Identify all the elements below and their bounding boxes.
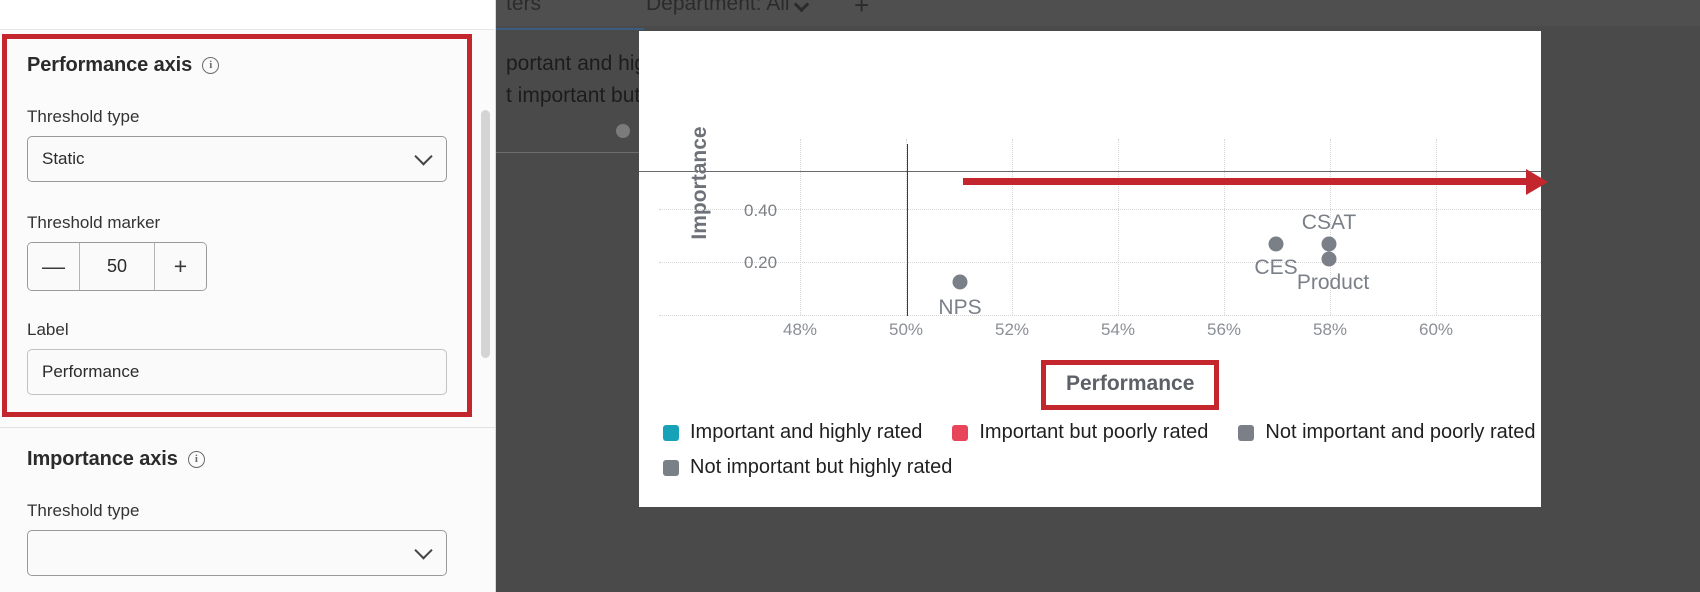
threshold-type-value: Static bbox=[42, 149, 85, 169]
legend-label: Not important but highly rated bbox=[690, 456, 952, 479]
importance-threshold-type-label: Threshold type bbox=[27, 501, 447, 521]
gridline-h-000 bbox=[659, 315, 1541, 316]
info-icon[interactable]: i bbox=[202, 57, 219, 74]
legend-item-not-important-poorly-rated[interactable]: Not important and poorly rated bbox=[1238, 421, 1535, 444]
behind-panel-divider bbox=[496, 152, 644, 153]
legend-swatch-icon bbox=[952, 425, 968, 441]
legend-item-not-important-highly-rated[interactable]: Not important but highly rated bbox=[663, 456, 952, 479]
importance-threshold-type-field: Threshold type bbox=[27, 501, 447, 576]
data-point-label-ces: CES bbox=[1254, 256, 1297, 280]
add-filter-button[interactable]: + bbox=[854, 0, 869, 21]
x-tick-label: 58% bbox=[1313, 320, 1347, 340]
performance-threshold-line bbox=[907, 144, 908, 316]
behind-legend-dot bbox=[616, 124, 630, 138]
data-point-product[interactable] bbox=[1322, 252, 1337, 267]
threshold-marker-stepper[interactable]: — 50 + bbox=[27, 242, 207, 291]
threshold-type-label: Threshold type bbox=[27, 107, 447, 127]
legend-swatch-icon bbox=[663, 425, 679, 441]
chart-legend: Important and highly rated Important but… bbox=[663, 421, 1523, 491]
label-input[interactable]: Performance bbox=[27, 349, 447, 395]
y-axis-title: Importance bbox=[688, 126, 712, 239]
section-divider bbox=[0, 427, 496, 428]
sidebar-top-strip bbox=[0, 0, 496, 30]
x-axis-title: Performance bbox=[1066, 372, 1194, 395]
data-point-label-nps: NPS bbox=[938, 296, 981, 320]
importance-axis-title-row: Importance axis i bbox=[27, 448, 447, 471]
performance-axis-title-row: Performance axis i bbox=[27, 54, 447, 77]
gridline-h-020 bbox=[659, 262, 1541, 263]
sidebar-scrollbar[interactable] bbox=[481, 110, 490, 358]
app-topbar: ters Department: All + bbox=[496, 0, 1700, 26]
accent-rule bbox=[496, 28, 644, 30]
section-title: Importance axis i bbox=[27, 448, 447, 471]
department-filter[interactable]: Department: All bbox=[646, 0, 790, 16]
importance-threshold-type-select[interactable] bbox=[27, 530, 447, 576]
importance-axis-heading: Importance axis bbox=[27, 448, 178, 471]
performance-axis-heading: Performance axis bbox=[27, 54, 192, 77]
gridline-v-52 bbox=[1012, 139, 1013, 315]
gridline-v-60 bbox=[1436, 139, 1437, 315]
x-tick-label: 56% bbox=[1207, 320, 1241, 340]
label-field-label: Label bbox=[27, 320, 447, 340]
increment-button[interactable]: + bbox=[154, 243, 206, 290]
chart-card: Importance 0.40 0.20 48% 50% 52% 54% 56%… bbox=[639, 31, 1541, 507]
data-point-nps[interactable] bbox=[953, 275, 968, 290]
legend-label: Not important and poorly rated bbox=[1265, 421, 1535, 444]
x-tick-label: 52% bbox=[995, 320, 1029, 340]
legend-label: Important but poorly rated bbox=[979, 421, 1208, 444]
data-point-csat[interactable] bbox=[1322, 237, 1337, 252]
legend-item-important-highly-rated[interactable]: Important and highly rated bbox=[663, 421, 922, 444]
threshold-marker-label: Threshold marker bbox=[27, 213, 447, 233]
threshold-marker-field: Threshold marker — 50 + bbox=[27, 213, 447, 291]
legend-label: Important and highly rated bbox=[690, 421, 922, 444]
data-point-label-csat: CSAT bbox=[1302, 211, 1356, 235]
legend-item-important-poorly-rated[interactable]: Important but poorly rated bbox=[952, 421, 1208, 444]
importance-threshold-line bbox=[639, 171, 1541, 172]
y-tick-label: 0.40 bbox=[744, 201, 777, 221]
legend-row: Not important but highly rated bbox=[663, 456, 1523, 479]
label-input-value: Performance bbox=[42, 362, 139, 382]
chevron-down-icon[interactable] bbox=[794, 0, 810, 12]
legend-row: Important and highly rated Important but… bbox=[663, 421, 1523, 444]
x-tick-label: 54% bbox=[1101, 320, 1135, 340]
x-tick-label: 48% bbox=[783, 320, 817, 340]
gridline-v-54 bbox=[1118, 139, 1119, 315]
scatter-plot: Importance 0.40 0.20 48% 50% 52% 54% 56%… bbox=[639, 31, 1541, 341]
section-title: Performance axis i bbox=[27, 54, 447, 77]
filters-label: ters bbox=[506, 0, 541, 16]
y-tick-label: 0.20 bbox=[744, 253, 777, 273]
settings-sidebar: Performance axis i Threshold type Static… bbox=[0, 0, 496, 592]
chevron-down-icon[interactable] bbox=[414, 541, 432, 559]
threshold-marker-value[interactable]: 50 bbox=[80, 243, 154, 290]
x-axis-label-highlight: Performance bbox=[1041, 360, 1219, 410]
chevron-down-icon[interactable] bbox=[414, 147, 432, 165]
decrement-button[interactable]: — bbox=[28, 243, 80, 290]
label-field: Label Performance bbox=[27, 320, 447, 395]
info-icon[interactable]: i bbox=[188, 451, 205, 468]
threshold-type-select[interactable]: Static bbox=[27, 136, 447, 182]
gridline-h-040 bbox=[659, 209, 1541, 210]
x-tick-label: 50% bbox=[889, 320, 923, 340]
arrow-head-icon bbox=[1526, 169, 1548, 195]
x-tick-label: 60% bbox=[1419, 320, 1453, 340]
threshold-type-field: Threshold type Static bbox=[27, 107, 447, 182]
legend-swatch-icon bbox=[663, 460, 679, 476]
data-point-ces[interactable] bbox=[1269, 237, 1284, 252]
screen-root: ters Department: All + portant and highl… bbox=[0, 0, 1700, 592]
performance-direction-arrow bbox=[963, 178, 1533, 185]
data-point-label-product: Product bbox=[1297, 271, 1369, 295]
gridline-v-56 bbox=[1224, 139, 1225, 315]
legend-swatch-icon bbox=[1238, 425, 1254, 441]
gridline-v-48 bbox=[800, 139, 801, 315]
